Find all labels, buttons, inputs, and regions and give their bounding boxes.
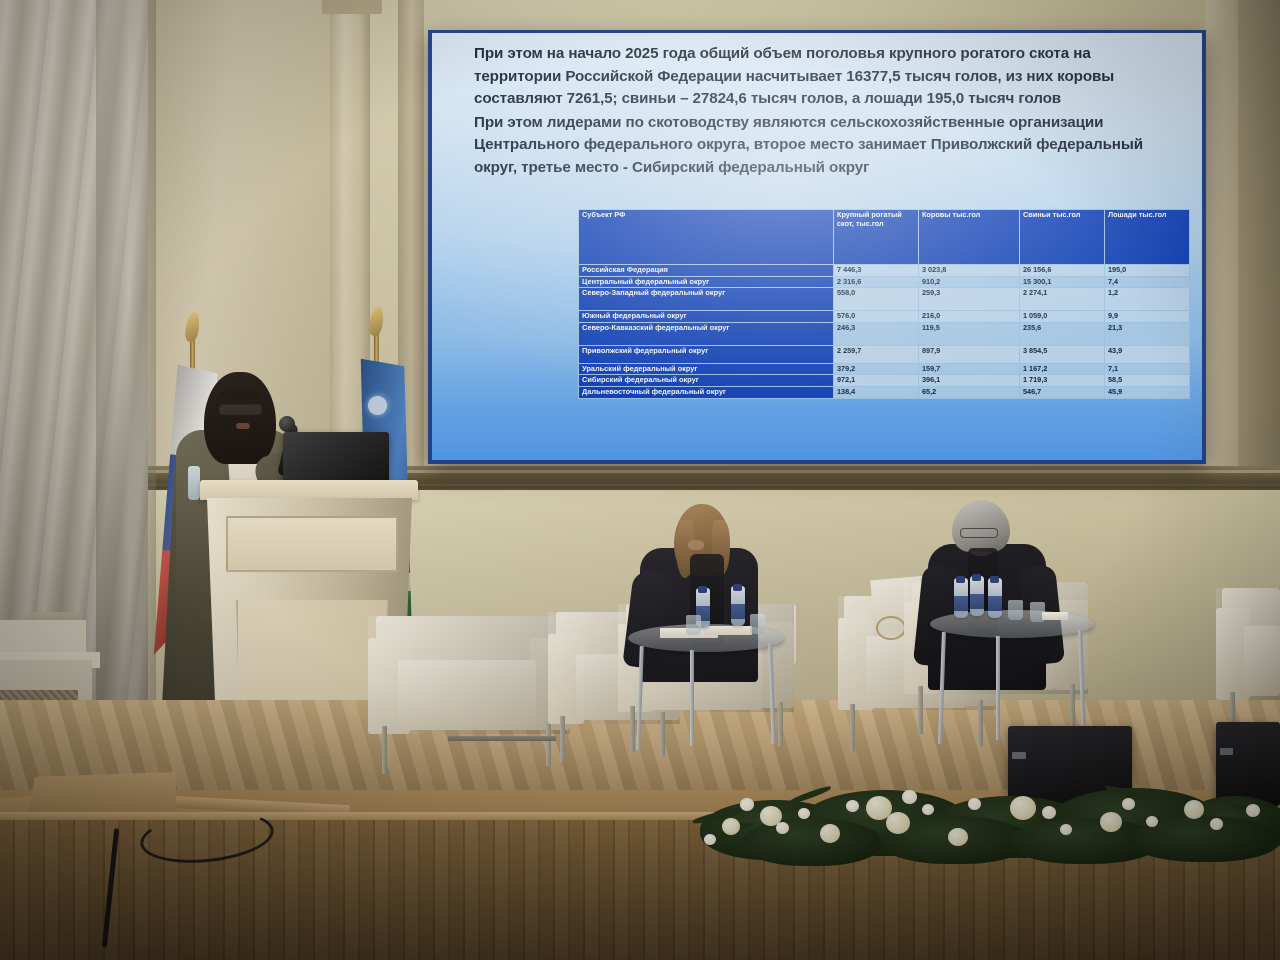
cell-cows: 396,1 <box>918 375 1019 387</box>
cell-subject: Приволжский федеральный округ <box>579 345 834 363</box>
white-chrysanthemum <box>846 800 859 812</box>
speaker-glasses-icon <box>219 404 262 415</box>
cell-horses: 45,9 <box>1104 386 1189 398</box>
drinking-glass <box>686 615 701 635</box>
white-chrysanthemum <box>1122 798 1135 810</box>
cell-cattle: 379,2 <box>833 363 918 375</box>
table-body: Российская Федерация 7 446,3 3 023,8 26 … <box>579 265 1190 399</box>
cell-subject: Уральский федеральный округ <box>579 363 834 375</box>
curtain-shading <box>0 0 148 700</box>
cell-subject: Российская Федерация <box>579 265 834 277</box>
table-row: Северо-Кавказский федеральный округ 246,… <box>579 322 1190 345</box>
table-row: Северо-Западный федеральный округ 558,0 … <box>579 288 1190 311</box>
white-chrysanthemum <box>740 798 754 811</box>
podium-panel-upper <box>226 516 398 572</box>
podium-desktop <box>200 480 418 500</box>
white-rose <box>886 812 910 834</box>
cell-pigs: 1 719,3 <box>1019 375 1104 387</box>
cell-cattle: 246,3 <box>833 322 918 345</box>
conference-hall-photo: При этом на начало 2025 года общий объем… <box>0 0 1280 960</box>
cell-cattle: 2 316,6 <box>833 276 918 288</box>
cell-horses: 58,5 <box>1104 375 1189 387</box>
wall-corner-inner <box>1205 0 1241 470</box>
window-sill <box>0 620 86 656</box>
white-rose <box>1010 796 1036 820</box>
cell-horses: 21,3 <box>1104 322 1189 345</box>
cell-pigs: 1 167,2 <box>1019 363 1104 375</box>
drinking-glass <box>750 614 765 634</box>
cell-cows: 65,2 <box>918 386 1019 398</box>
cell-pigs: 546,7 <box>1019 386 1104 398</box>
podium-water-bottle <box>188 466 200 500</box>
cell-subject: Южный федеральный округ <box>579 311 834 323</box>
speaker-mouth <box>236 423 250 429</box>
cell-cattle: 138,4 <box>833 386 918 398</box>
white-chrysanthemum <box>1060 824 1072 835</box>
speaker-hair <box>204 372 276 464</box>
livestock-table: Субъект РФ Крупный рогатый скот, тыс.гол… <box>578 209 1190 399</box>
cell-subject: Центральный федеральный округ <box>579 276 834 288</box>
drinking-glass <box>1008 600 1023 620</box>
cell-subject: Дальневосточный федеральный округ <box>579 386 834 398</box>
stage-monitor-right <box>1216 722 1280 806</box>
table-row: Сибирский федеральный округ 972,1 396,1 … <box>579 375 1190 387</box>
pilaster-capital <box>322 0 382 14</box>
cell-horses: 7,1 <box>1104 363 1189 375</box>
flag-sun-emblem-icon <box>368 396 387 415</box>
cell-cattle: 558,0 <box>833 288 918 311</box>
cell-horses: 9,9 <box>1104 311 1189 323</box>
handbag-clasp-icon <box>876 616 906 640</box>
white-rose <box>1100 812 1122 832</box>
cell-cattle: 576,0 <box>833 311 918 323</box>
white-chrysanthemum <box>1246 804 1260 817</box>
table-row: Приволжский федеральный округ 2 259,7 89… <box>579 345 1190 363</box>
cell-pigs: 1 059,0 <box>1019 311 1104 323</box>
slide-paragraph-2: При этом лидерами по скотоводству являют… <box>474 112 1174 180</box>
table-row: Южный федеральный округ 576,0 216,0 1 05… <box>579 311 1190 323</box>
white-chrysanthemum <box>1210 818 1223 830</box>
table-row: Дальневосточный федеральный округ 138,4 … <box>579 386 1190 398</box>
presentation-slide: При этом на начало 2025 года общий объем… <box>432 33 1202 460</box>
cell-horses: 43,9 <box>1104 345 1189 363</box>
cell-cows: 259,3 <box>918 288 1019 311</box>
stage-monitor-label <box>1012 752 1026 759</box>
cell-subject: Северо-Кавказский федеральный округ <box>579 322 834 345</box>
cell-horses: 195,0 <box>1104 265 1189 277</box>
col-header-horses: Лошади тыс.гол <box>1104 210 1189 265</box>
table-row: Российская Федерация 7 446,3 3 023,8 26 … <box>579 265 1190 277</box>
cell-cows: 897,9 <box>918 345 1019 363</box>
table-row: Центральный федеральный округ 2 316,6 91… <box>579 276 1190 288</box>
white-rose <box>722 818 740 835</box>
cell-cattle: 2 259,7 <box>833 345 918 363</box>
cell-subject: Северо-Западный федеральный округ <box>579 288 834 311</box>
cell-cows: 910,2 <box>918 276 1019 288</box>
white-chrysanthemum <box>776 822 789 834</box>
cell-horses: 7,4 <box>1104 276 1189 288</box>
col-header-cows: Коровы тыс.гол <box>918 210 1019 265</box>
cell-pigs: 2 274,1 <box>1019 288 1104 311</box>
col-header-pigs: Свиньи тыс.гол <box>1019 210 1104 265</box>
white-chrysanthemum <box>798 808 810 819</box>
white-chrysanthemum <box>1042 806 1056 819</box>
white-chrysanthemum <box>968 798 981 810</box>
cell-pigs: 26 156,6 <box>1019 265 1104 277</box>
col-header-cattle: Крупный рогатый скот, тыс.гол <box>833 210 918 265</box>
white-chrysanthemum <box>902 790 917 804</box>
wall-corner-right <box>1238 0 1280 492</box>
microphone-head-icon <box>279 416 295 432</box>
slide-body-text: При этом на начало 2025 года общий объем… <box>474 43 1174 181</box>
white-chrysanthemum <box>704 834 716 845</box>
white-rose <box>820 824 840 843</box>
white-rose <box>1184 800 1204 819</box>
cell-pigs: 15 300,1 <box>1019 276 1104 288</box>
slide-paragraph-1: При этом на начало 2025 года общий объем… <box>474 43 1174 111</box>
table-header-row: Субъект РФ Крупный рогатый скот, тыс.гол… <box>579 210 1190 265</box>
table-row: Уральский федеральный округ 379,2 159,7 … <box>579 363 1190 375</box>
cell-cattle: 7 446,3 <box>833 265 918 277</box>
cell-subject: Сибирский федеральный округ <box>579 375 834 387</box>
white-chrysanthemum <box>1146 816 1158 827</box>
cell-cows: 216,0 <box>918 311 1019 323</box>
cell-horses: 1,2 <box>1104 288 1189 311</box>
white-chrysanthemum <box>922 804 934 815</box>
cell-cows: 119,5 <box>918 322 1019 345</box>
panelist-glasses-icon <box>960 528 998 538</box>
cell-pigs: 3 854,5 <box>1019 345 1104 363</box>
col-header-subject: Субъект РФ <box>579 210 834 265</box>
white-rose <box>948 828 968 846</box>
cell-pigs: 235,6 <box>1019 322 1104 345</box>
cell-cows: 159,7 <box>918 363 1019 375</box>
cell-cows: 3 023,8 <box>918 265 1019 277</box>
stage-monitor-label <box>1220 748 1233 755</box>
cell-cattle: 972,1 <box>833 375 918 387</box>
